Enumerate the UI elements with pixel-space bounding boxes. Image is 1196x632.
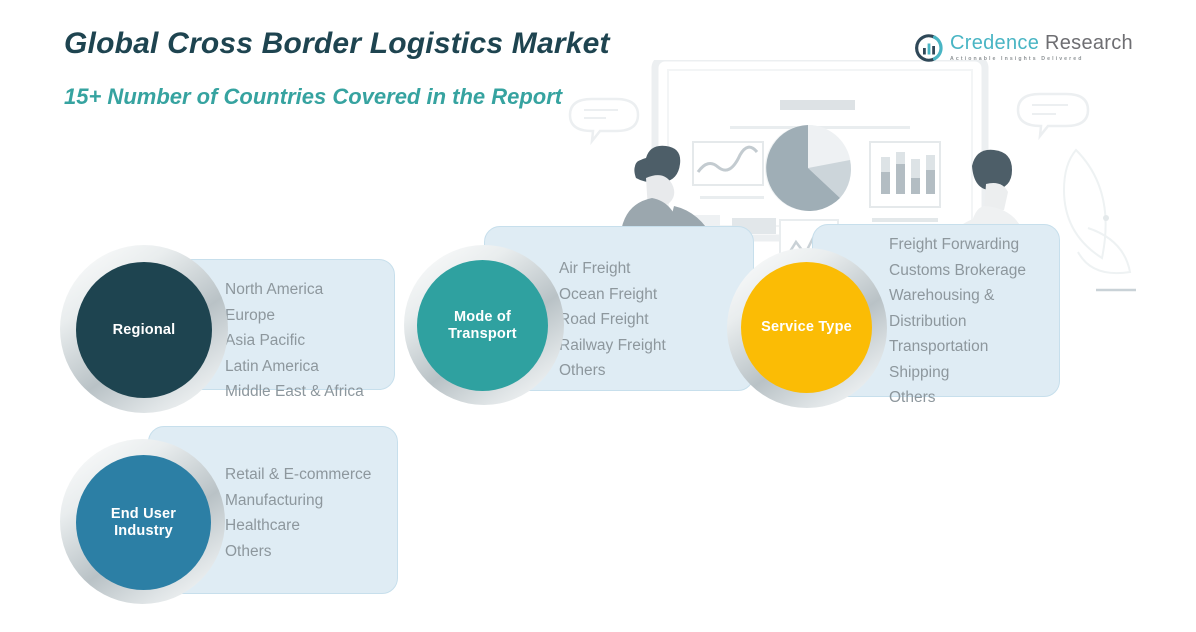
line-chart — [693, 142, 763, 185]
pie-chart — [765, 125, 851, 211]
segment-items-regional: North America Europe Asia Pacific Latin … — [225, 277, 400, 405]
infographic-canvas: Global Cross Border Logistics Market 15+… — [0, 0, 1196, 632]
segment-circle-service-type[interactable]: Service Type — [741, 262, 872, 393]
logo-tagline: Actionable Insights Delivered — [950, 57, 1133, 62]
segment-items-service-type: Freight Forwarding Customs Brokerage War… — [889, 232, 1074, 411]
leaf-outline — [1064, 150, 1136, 290]
logo-name-secondary: Research — [1045, 32, 1133, 54]
speech-bubble-left — [570, 99, 638, 141]
logo-name: Credence Research — [950, 33, 1133, 53]
logo-name-primary: Credence — [950, 32, 1039, 54]
segment-items-mode-of-transport: Air Freight Ocean Freight Road Freight R… — [559, 256, 749, 384]
segment-circle-mode-of-transport[interactable]: Mode of Transport — [417, 260, 548, 391]
logo-wordmark: Credence Research Actionable Insights De… — [950, 33, 1133, 62]
bar-chart — [870, 142, 940, 232]
segment-circle-end-user-industry[interactable]: End User Industry — [76, 455, 211, 590]
credence-research-logo: Credence Research Actionable Insights De… — [915, 33, 1133, 62]
bar-chart-circle-icon — [915, 34, 943, 62]
page-subtitle: 15+ Number of Countries Covered in the R… — [64, 84, 562, 110]
segment-items-end-user-industry: Retail & E-commerce Manufacturing Health… — [225, 462, 405, 564]
page-title: Global Cross Border Logistics Market — [64, 27, 610, 61]
segment-circle-regional[interactable]: Regional — [76, 262, 212, 398]
speech-bubble-right — [1018, 94, 1088, 136]
whiteboard — [655, 60, 985, 238]
